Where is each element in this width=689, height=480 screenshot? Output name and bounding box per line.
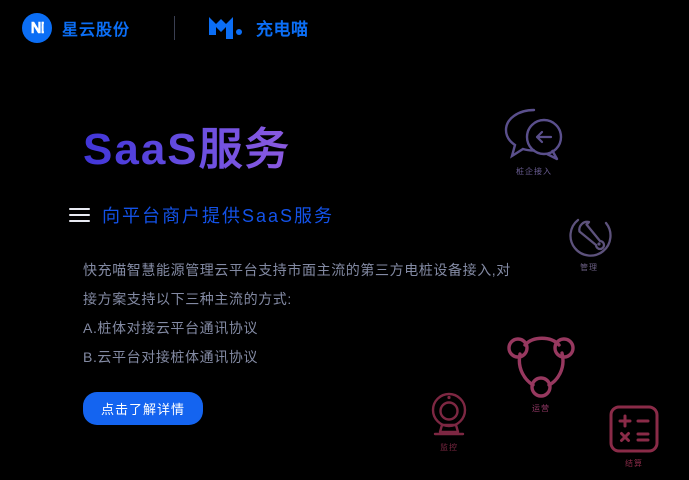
brand-secondary-name: 充电喵	[256, 15, 309, 40]
brand-primary[interactable]: 星云股份	[22, 13, 130, 43]
feature-operate-label: 运营	[532, 403, 550, 414]
subtitle-row: 向平台商户提供SaaS服务	[69, 202, 603, 228]
wrench-icon	[565, 210, 613, 258]
page-header: 星云股份 充电喵	[0, 0, 689, 55]
feature-settle-label: 结算	[625, 458, 643, 469]
body-line: 接方案支持以下三种主流的方式:	[83, 285, 583, 314]
cat-face-icon	[207, 15, 249, 41]
body-line: 快充喵智慧能源管理云平台支持市面主流的第三方电桩设备接入,对	[83, 256, 583, 285]
page-subtitle: 向平台商户提供SaaS服务	[102, 202, 334, 228]
learn-more-button[interactable]: 点击了解详情	[83, 392, 203, 425]
brand-secondary[interactable]: 充电喵	[207, 15, 309, 41]
feature-manage: 管理	[565, 210, 613, 273]
feature-operate: 运营	[503, 327, 579, 414]
camera-icon	[424, 390, 474, 438]
feature-manage-label: 管理	[580, 262, 598, 273]
feature-monitor-label: 监控	[440, 442, 458, 453]
chat-bubbles-icon	[500, 104, 568, 162]
hamburger-icon	[69, 208, 90, 222]
feature-chat-label: 桩企接入	[516, 166, 552, 177]
feature-monitor: 监控	[424, 390, 474, 453]
feature-chat: 桩企接入	[500, 104, 568, 177]
header-divider	[174, 16, 175, 40]
ne-monogram-icon	[22, 13, 52, 43]
network-nodes-icon	[503, 327, 579, 399]
brand-primary-name: 星云股份	[62, 16, 130, 40]
calculator-icon	[606, 404, 662, 454]
feature-settle: 结算	[606, 404, 662, 469]
